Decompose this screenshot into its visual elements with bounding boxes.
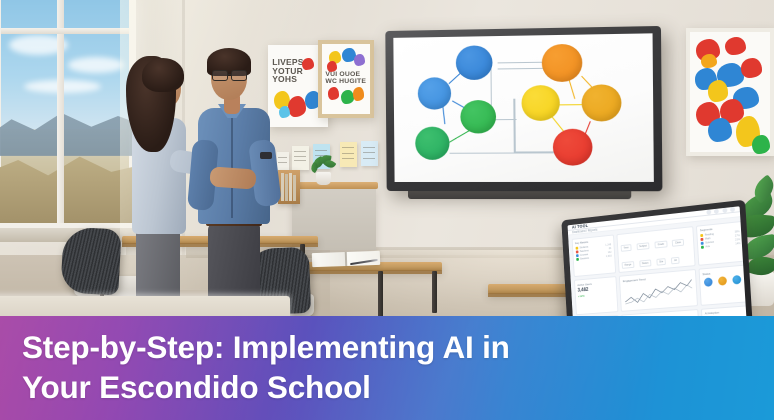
line-chart: [623, 278, 694, 308]
status-bubble: [732, 275, 741, 285]
interactive-whiteboard-display[interactable]: [385, 26, 662, 191]
filter-pill[interactable]: Status: [639, 259, 651, 267]
chair-back: [60, 227, 121, 296]
legend-value: 14%: [735, 242, 740, 245]
bell-icon[interactable]: [714, 209, 719, 214]
diagram-node-5[interactable]: [542, 43, 583, 82]
legend-swatch: [575, 250, 578, 253]
legend-swatch: [576, 254, 579, 257]
diagram-node-7[interactable]: [581, 84, 621, 121]
filter-pill[interactable]: All: [671, 257, 680, 265]
card-key-metrics[interactable]: Key Metrics Students 1,248 Teachers 86 C…: [571, 234, 616, 277]
filter-pill[interactable]: Subject: [636, 242, 650, 250]
book: [281, 173, 284, 201]
diagram-node-8[interactable]: [553, 129, 593, 166]
legend-swatch: [701, 246, 704, 249]
sticky-note: [340, 142, 357, 167]
title-banner: Step-by-Step: Implementing AI inYour Esc…: [0, 316, 774, 420]
filter-pill[interactable]: Grade: [655, 241, 667, 249]
art-blob: [725, 37, 746, 55]
eyeglasses-icon: [212, 70, 228, 81]
filter-pill[interactable]: Range: [622, 261, 634, 269]
page-title: Step-by-Step: Implementing AI inYour Esc…: [0, 316, 774, 407]
desk-leg: [432, 271, 437, 313]
poster-blob: [328, 87, 340, 100]
legend-label: Math: [705, 237, 711, 240]
screenshot-root: LIVEPS YOTUR YOHS VUI OUOE WC HUGITE: [0, 0, 774, 420]
book: [285, 174, 288, 201]
legend-value: 27%: [735, 234, 740, 237]
card-engagement-trend[interactable]: Engagement Trend: [619, 269, 698, 312]
avatar[interactable]: [730, 207, 735, 212]
plant-pot-small: [316, 172, 331, 185]
diagram-node-4[interactable]: [416, 127, 451, 160]
flow-diagram: [393, 33, 654, 182]
legend-value: 38%: [735, 230, 740, 233]
card-status-bubbles[interactable]: Status: [698, 265, 746, 306]
eyeglasses-bridge-icon: [228, 74, 231, 75]
poster-blob: [279, 106, 290, 118]
art-blob: [752, 135, 770, 154]
book: [293, 175, 296, 201]
legend-label: Arts: [705, 245, 710, 248]
sticky-note: [292, 146, 309, 170]
poster-blob: [327, 61, 338, 72]
eyeglasses-icon: [231, 70, 247, 81]
man-wristwatch: [260, 152, 272, 159]
man-shirt-placket: [231, 112, 233, 218]
legend-swatch: [575, 246, 578, 249]
diagram-connector: [450, 153, 564, 155]
desk-leg: [378, 271, 383, 317]
diagram-node-2[interactable]: [418, 77, 451, 109]
poster-center: VUI OUOE WC HUGITE: [318, 40, 374, 118]
legend-swatch: [700, 233, 703, 236]
sticky-note: [277, 152, 289, 170]
legend-value: 86: [609, 247, 612, 250]
man-hands: [209, 166, 256, 189]
cloud: [68, 57, 124, 73]
poster-left-text: LIVEPS YOTUR YOHS: [272, 58, 303, 84]
art-blob: [701, 54, 717, 68]
poster-center-text: VUI OUOE WC HUGITE: [325, 72, 366, 86]
poster-blob: [302, 58, 314, 70]
legend-label: Science: [705, 241, 714, 245]
poster-blob: [353, 87, 365, 100]
window-mullion-horizontal: [1, 28, 129, 34]
card-segments[interactable]: Segments Reading 38% Math 27% Science: [696, 220, 746, 266]
legend-swatch: [701, 242, 704, 245]
filter-pill[interactable]: Term: [621, 244, 632, 252]
book: [289, 173, 292, 201]
poster-blob: [354, 54, 366, 66]
status-bubble: [704, 277, 713, 287]
card-active-users[interactable]: Active Users 3,482 +12%: [574, 276, 619, 315]
legend-label: Sessions: [580, 257, 589, 261]
art-blob: [708, 118, 732, 142]
legend-swatch: [576, 258, 579, 261]
dashboard-card-grid: Key Metrics Students 1,248 Teachers 86 C…: [568, 217, 746, 332]
legend-value: 2,910: [606, 255, 612, 258]
diagram-node-3[interactable]: [460, 100, 496, 134]
diagram-connector: [514, 99, 516, 153]
card-filters[interactable]: Term Subject Grade Class Range Status Si…: [617, 226, 696, 273]
legend-swatch: [700, 238, 703, 241]
search-icon[interactable]: [706, 209, 711, 214]
display-stand: [408, 190, 631, 199]
sticky-note: [361, 141, 378, 166]
legend-value: 1,248: [605, 243, 611, 246]
filter-pill[interactable]: Site: [656, 258, 666, 266]
diagram-node-1[interactable]: [455, 45, 492, 80]
filter-pill[interactable]: Class: [672, 239, 684, 247]
cabinet-top-surface: [290, 182, 378, 189]
poster-blob: [341, 90, 353, 104]
display-screen[interactable]: [393, 33, 654, 182]
dashboard-screen[interactable]: AI TOOL Dashboard / Reports Key Metrics: [568, 206, 747, 332]
gear-icon[interactable]: [722, 208, 727, 213]
classroom-window: [0, 0, 136, 230]
woman-hair-top: [142, 58, 184, 92]
status-bubble: [718, 276, 727, 286]
title-line-1: Step-by-Step: Implementing AI in: [22, 329, 510, 365]
art-blob: [741, 58, 762, 77]
diagram-node-6[interactable]: [521, 85, 559, 121]
poster-right-abstract: [686, 28, 774, 156]
title-line-2: Your Escondido School: [22, 369, 371, 405]
art-blob: [708, 80, 729, 102]
poster-blob: [288, 96, 306, 117]
